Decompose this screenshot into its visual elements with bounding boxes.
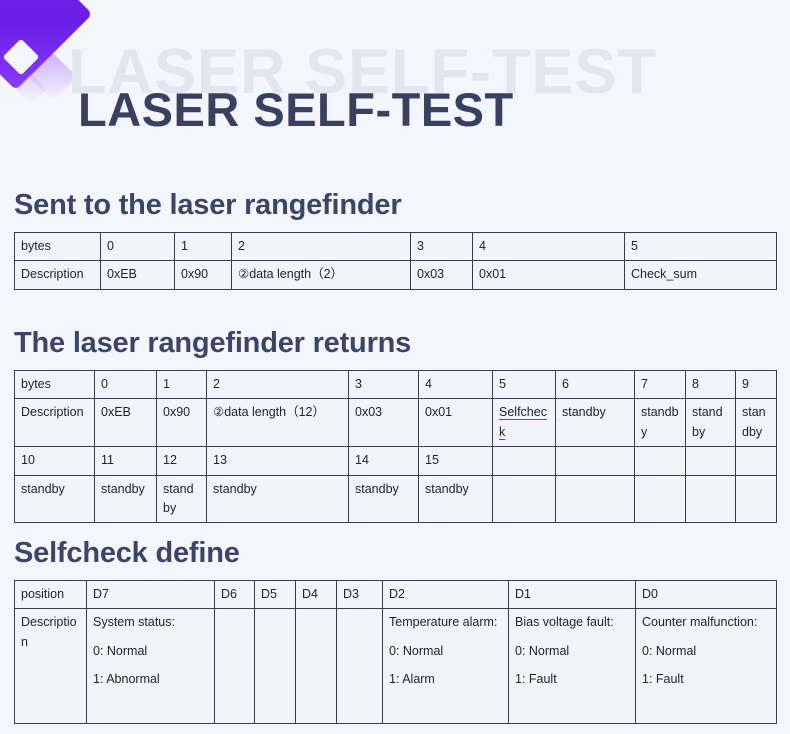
cell-byte-index-2: 2: [207, 371, 349, 399]
cell-value-1: 0x90: [175, 261, 232, 289]
cell-bit-d7: D7: [87, 581, 215, 609]
cell-desc-d1: Bias voltage fault: 0: Normal 1: Fault: [509, 609, 636, 724]
cell-empty-5: [736, 447, 777, 475]
cell-empty-2: [556, 447, 635, 475]
cell-bit-d2: D2: [383, 581, 509, 609]
cell-value-15: standby: [419, 475, 493, 523]
desc-line: 0: Normal: [515, 642, 629, 661]
cell-byte-index-2: 2: [232, 233, 411, 261]
cell-byte-index-3: 3: [411, 233, 473, 261]
cell-value-1: 0x90: [157, 399, 207, 447]
section-title-define: Selfcheck define: [14, 537, 776, 570]
cell-bytes-label: bytes: [15, 371, 95, 399]
cell-value-6: standby: [556, 399, 635, 447]
desc-line: Counter malfunction:: [642, 613, 770, 632]
cell-empty-9: [686, 475, 736, 523]
cell-desc-d6: [215, 609, 255, 724]
table-return-frame: bytes 0 1 2 3 4 5 6 7 8 9 Description 0x…: [14, 370, 777, 523]
section-selfcheck-define: Selfcheck define position D7 D6 D5 D4 D3…: [0, 537, 790, 724]
cell-description-label: Description: [15, 609, 87, 724]
cell-description-label: Description: [15, 399, 95, 447]
desc-line: System status:: [93, 613, 208, 632]
cell-value-2: ②data length（12）: [207, 399, 349, 447]
cell-byte-index-14: 14: [349, 447, 419, 475]
cell-desc-d3: [337, 609, 383, 724]
cell-value-3: 0x03: [411, 261, 473, 289]
cell-byte-index-5: 5: [493, 371, 556, 399]
page-banner: LASER SELF-TEST LASER SELF-TEST: [0, 0, 790, 165]
table-row: standby standby standby standby standby …: [15, 475, 777, 523]
cell-value-9: standby: [736, 399, 777, 447]
cell-byte-index-5: 5: [625, 233, 777, 261]
cell-desc-d5: [255, 609, 296, 724]
cell-desc-d0: Counter malfunction: 0: Normal 1: Fault: [636, 609, 777, 724]
table-row: bytes 0 1 2 3 4 5 6 7 8 9: [15, 371, 777, 399]
table-selfcheck-bits: position D7 D6 D5 D4 D3 D2 D1 D0 Descrip…: [14, 580, 777, 724]
table-row: Description 0xEB 0x90 ②data length（2） 0x…: [15, 261, 777, 289]
cell-bit-d5: D5: [255, 581, 296, 609]
cell-value-11: standby: [95, 475, 157, 523]
cell-byte-index-8: 8: [686, 371, 736, 399]
cell-byte-index-4: 4: [473, 233, 625, 261]
cell-value-5-selfcheck: Selfcheck: [493, 399, 556, 447]
cell-bit-d6: D6: [215, 581, 255, 609]
cell-value-2: ②data length（2）: [232, 261, 411, 289]
cell-byte-index-7: 7: [635, 371, 686, 399]
cell-description-label: Description: [15, 261, 101, 289]
cell-bit-d0: D0: [636, 581, 777, 609]
cell-value-13: standby: [207, 475, 349, 523]
cell-bit-d1: D1: [509, 581, 636, 609]
cell-position-label: position: [15, 581, 87, 609]
cell-bit-d3: D3: [337, 581, 383, 609]
cell-value-8: standby: [686, 399, 736, 447]
table-row: position D7 D6 D5 D4 D3 D2 D1 D0: [15, 581, 777, 609]
cell-value-10: standby: [15, 475, 95, 523]
cell-empty-7: [556, 475, 635, 523]
desc-line: 0: Normal: [93, 642, 208, 661]
cell-byte-index-4: 4: [419, 371, 493, 399]
table-row: bytes 0 1 2 3 4 5: [15, 233, 777, 261]
desc-line: Temperature alarm:: [389, 613, 502, 632]
desc-line: 0: Normal: [389, 642, 502, 661]
desc-line: Bias voltage fault:: [515, 613, 629, 632]
desc-line: 0: Normal: [642, 642, 770, 661]
cell-desc-d2: Temperature alarm: 0: Normal 1: Alarm: [383, 609, 509, 724]
desc-line: 1: Alarm: [389, 670, 502, 689]
cell-value-3: 0x03: [349, 399, 419, 447]
cell-bit-d4: D4: [296, 581, 337, 609]
cell-value-0: 0xEB: [95, 399, 157, 447]
cell-value-14: standby: [349, 475, 419, 523]
cell-desc-d4: [296, 609, 337, 724]
cell-empty-6: [493, 475, 556, 523]
desc-line: 1: Fault: [515, 670, 629, 689]
selfcheck-misspelled-text: Selfcheck: [499, 405, 547, 439]
cell-byte-index-1: 1: [157, 371, 207, 399]
table-sent-command: bytes 0 1 2 3 4 5 Description 0xEB 0x90 …: [14, 232, 777, 290]
page-title: LASER SELF-TEST: [78, 82, 514, 137]
cell-empty-4: [686, 447, 736, 475]
section-sent-to-rangefinder: Sent to the laser rangefinder bytes 0 1 …: [0, 189, 790, 290]
cell-empty-8: [635, 475, 686, 523]
cell-value-0: 0xEB: [101, 261, 175, 289]
cell-empty-1: [493, 447, 556, 475]
table-row: Description System status: 0: Normal 1: …: [15, 609, 777, 724]
cell-desc-d7: System status: 0: Normal 1: Abnormal: [87, 609, 215, 724]
cell-byte-index-6: 6: [556, 371, 635, 399]
desc-line: 1: Fault: [642, 670, 770, 689]
cell-empty-3: [635, 447, 686, 475]
cell-byte-index-10: 10: [15, 447, 95, 475]
cell-byte-index-9: 9: [736, 371, 777, 399]
cell-byte-index-13: 13: [207, 447, 349, 475]
cell-value-4: 0x01: [419, 399, 493, 447]
cell-byte-index-0: 0: [101, 233, 175, 261]
table-row: 10 11 12 13 14 15: [15, 447, 777, 475]
cell-empty-10: [736, 475, 777, 523]
table-row: Description 0xEB 0x90 ②data length（12） 0…: [15, 399, 777, 447]
cell-byte-index-12: 12: [157, 447, 207, 475]
section-title-returns: The laser rangefinder returns: [14, 327, 776, 360]
section-rangefinder-returns: The laser rangefinder returns bytes 0 1 …: [0, 327, 790, 523]
cell-byte-index-0: 0: [95, 371, 157, 399]
cell-byte-index-15: 15: [419, 447, 493, 475]
cell-value-12: standby: [157, 475, 207, 523]
cell-byte-index-11: 11: [95, 447, 157, 475]
cell-bytes-label: bytes: [15, 233, 101, 261]
cell-value-4: 0x01: [473, 261, 625, 289]
desc-line: 1: Abnormal: [93, 670, 208, 689]
section-title-sent: Sent to the laser rangefinder: [14, 189, 776, 222]
cell-byte-index-3: 3: [349, 371, 419, 399]
cell-value-7: standby: [635, 399, 686, 447]
cell-byte-index-1: 1: [175, 233, 232, 261]
cell-value-5: Check_sum: [625, 261, 777, 289]
